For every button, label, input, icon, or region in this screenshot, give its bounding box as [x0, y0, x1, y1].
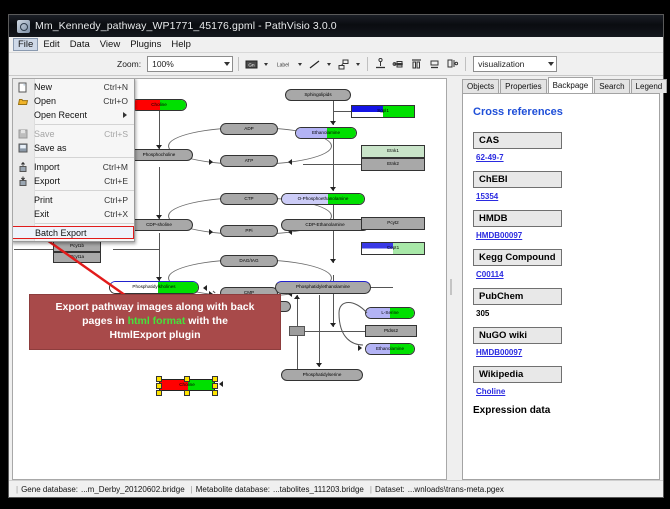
node-label: Etnk1: [387, 149, 399, 154]
svg-text:Gn: Gn: [249, 62, 256, 67]
selection-handle-tl[interactable]: [156, 376, 162, 382]
menu-item-label: Save as: [34, 143, 128, 153]
metabolite-database-label: Metabolite database:: [196, 485, 270, 494]
label-dropdown-icon[interactable]: [298, 63, 302, 66]
node-etnk2[interactable]: Etnk2: [361, 158, 425, 171]
menu-bar: File Edit Data View Plugins Help: [9, 37, 663, 53]
menu-item-label: Batch Export: [35, 228, 133, 238]
menu-plugins[interactable]: Plugins: [125, 38, 166, 51]
selection-handle-mr[interactable]: [212, 383, 218, 389]
node-label: O-Phosphoethanolamine: [298, 197, 349, 202]
xref-value: 305: [476, 309, 649, 318]
node-dag[interactable]: DAG/IAG: [220, 255, 278, 267]
tab-search[interactable]: Search: [594, 79, 629, 93]
visualization-value: visualization: [478, 59, 524, 69]
node-cept1[interactable]: Cept1: [361, 242, 425, 255]
zoom-combo[interactable]: 100%: [147, 56, 233, 72]
callout-line-2a: pages in: [82, 315, 128, 327]
pathvisio-app-icon: [17, 20, 30, 33]
align-left-icon[interactable]: [409, 57, 424, 72]
node-label: Sgpl1: [377, 109, 389, 114]
line-dropdown-icon[interactable]: [327, 63, 331, 66]
selection-handle-bl[interactable]: [156, 390, 162, 396]
selection-handle-bc[interactable]: [184, 390, 190, 396]
cross-references-heading: Cross references: [473, 106, 649, 118]
arrow-sam-to-ptdcholine: [203, 285, 207, 291]
node-ctp[interactable]: CTP: [220, 193, 278, 205]
menu-item-label: Print: [34, 195, 104, 205]
node-label: Sphingolipids: [304, 93, 331, 98]
toolbar-separator-3: [465, 57, 466, 71]
export-icon: [12, 176, 34, 186]
interaction-dropdown-icon[interactable]: [356, 63, 360, 66]
menu-item-open[interactable]: Open Ctrl+O: [12, 94, 134, 108]
callout-line-2c: with the: [185, 315, 228, 327]
menu-separator-4: [34, 223, 134, 224]
node-cdp-ethanolamine[interactable]: CDP-Ethanolamine: [281, 219, 369, 231]
node-ppi[interactable]: PPi: [220, 225, 278, 237]
title-bar: Mm_Kennedy_pathway_WP1771_45176.gpml - P…: [9, 15, 663, 37]
menu-item-accel: Ctrl+E: [104, 176, 134, 186]
xref-hmdb: HMDB HMDB00097: [473, 210, 649, 240]
xref-label: PubChem: [473, 288, 562, 305]
node-sgpl1[interactable]: Sgpl1: [351, 105, 415, 118]
menu-item-label: Open Recent: [34, 110, 123, 120]
selection-handle-tr[interactable]: [212, 376, 218, 382]
callout-line-2: pages in html format with the: [36, 314, 274, 328]
menu-item-label: New: [34, 82, 104, 92]
xref-value-link[interactable]: Choline: [476, 387, 649, 396]
menu-item-save-as[interactable]: Save as: [12, 141, 134, 155]
node-phosphatidylserine[interactable]: Phosphatidylserine: [281, 369, 363, 381]
node-label: CDP-Ethanolamine: [305, 223, 344, 228]
datanode-dropdown-icon[interactable]: [264, 63, 268, 66]
menu-item-open-recent[interactable]: Open Recent: [12, 108, 134, 122]
arrow-pe-ps-down: [316, 363, 322, 367]
align-center-icon[interactable]: [427, 57, 442, 72]
menu-separator-2: [34, 157, 134, 158]
xref-wikipedia: Wikipedia Choline: [473, 366, 649, 396]
xref-kegg-compound: Kegg Compound C00114: [473, 249, 649, 279]
save-disk-icon: [12, 129, 34, 139]
node-atp[interactable]: ATP: [220, 155, 278, 167]
node-o-phosphoethanolamine[interactable]: O-Phosphoethanolamine: [281, 193, 365, 205]
main-body: Choline Sphingolipids Ethanolamine ADP A…: [9, 76, 663, 480]
callout-line-3: HtmlExport plugin: [36, 328, 274, 342]
import-icon: [12, 162, 34, 172]
menu-item-label: Exit: [34, 209, 104, 219]
node-label: ATP: [245, 159, 254, 164]
status-bar: | Gene database: ...m_Derby_20120602.bri…: [9, 480, 663, 497]
xref-label: NuGO wiki: [473, 327, 562, 344]
menu-item-export[interactable]: Export Ctrl+E: [12, 174, 134, 188]
menu-help[interactable]: Help: [166, 38, 196, 51]
arrow-to-choline-selected: [219, 381, 223, 387]
menu-item-accel: Ctrl+N: [104, 82, 134, 92]
node-label: Etnk2: [387, 162, 399, 167]
metabolite-database-value: ...tabolites_111203.bridge: [273, 485, 364, 494]
menu-edit[interactable]: Edit: [38, 38, 64, 51]
arrow-to-ppi: [209, 229, 213, 235]
dataset-value: ...wnloads\trans-meta.pgex: [408, 485, 504, 494]
menu-item-exit[interactable]: Exit Ctrl+X: [12, 207, 134, 221]
node-label: L-Serine: [381, 311, 398, 316]
line-icon[interactable]: [307, 57, 322, 72]
callout-line-1: Export pathway images along with back: [36, 300, 274, 314]
backpage-content: Cross references CAS 62-49-7 ChEBI 15354…: [462, 93, 660, 480]
node-phosphocholine[interactable]: Phosphocholine: [125, 149, 193, 161]
xref-value-link[interactable]: 15354: [476, 192, 649, 201]
side-tab-row: Objects Properties Backpage Search Legen…: [454, 78, 660, 93]
screen-root: Mm_Kennedy_pathway_WP1771_45176.gpml - P…: [0, 0, 670, 509]
node-label: ADP: [244, 127, 253, 132]
zoom-value: 100%: [152, 59, 174, 69]
menu-item-accel: Ctrl+M: [103, 162, 134, 172]
window-title: Mm_Kennedy_pathway_WP1771_45176.gpml - P…: [35, 20, 337, 32]
xref-label: Kegg Compound: [473, 249, 562, 266]
node-choline-top[interactable]: Choline: [131, 99, 187, 111]
node-label: Pcyt2: [387, 221, 399, 226]
node-etnk1[interactable]: Etnk1: [361, 145, 425, 158]
svg-text:Label: Label: [277, 63, 289, 69]
node-label: Ethanolamine: [312, 131, 340, 136]
chevron-down-icon: [224, 62, 230, 66]
node-label: Phosphatidylethanolamine: [296, 285, 350, 290]
status-divider-1: |: [191, 485, 193, 494]
edge-choline-phosphocholine: [159, 111, 160, 149]
menu-item-accel: Ctrl+O: [103, 96, 134, 106]
node-label: Phosphatidylserine: [303, 373, 342, 378]
selection-handle-ml[interactable]: [156, 383, 162, 389]
toolbar-separator-2: [367, 57, 368, 71]
node-label: Choline: [151, 103, 167, 108]
tab-objects[interactable]: Objects: [462, 79, 499, 93]
callout-highlight: html format: [128, 315, 186, 327]
chevron-down-icon-2: [548, 62, 554, 66]
dataset-label: Dataset:: [375, 485, 405, 494]
node-phosphatidylethanolamine[interactable]: Phosphatidylethanolamine: [275, 281, 371, 294]
menu-item-accel: Ctrl+P: [104, 195, 134, 205]
arrow-ethanolamine-down: [330, 187, 336, 191]
menu-item-label: Export: [34, 176, 104, 186]
xref-nugo-wiki: NuGO wiki HMDB00097: [473, 327, 649, 357]
visualization-combo[interactable]: visualization: [473, 56, 557, 72]
zoom-label: Zoom:: [117, 59, 141, 69]
side-panel: Objects Properties Backpage Search Legen…: [454, 78, 660, 480]
node-label: PPi: [245, 229, 252, 234]
panel-splitter[interactable]: [449, 78, 454, 480]
gene-database-label: Gene database:: [21, 485, 78, 494]
arrow-sphingolipids-down: [330, 121, 336, 125]
menu-item-accel: Ctrl+S: [104, 129, 134, 139]
curve-serine-ethanolamine: [333, 295, 373, 355]
annotation-callout: Export pathway images along with back pa…: [29, 294, 281, 350]
arrow-to-atp: [209, 159, 213, 165]
xref-cas: CAS 62-49-7: [473, 132, 649, 162]
node-label: CTP: [244, 197, 253, 202]
submenu-arrow-icon: [123, 112, 127, 118]
save-as-icon: [12, 143, 34, 153]
tool-bar: Zoom: 100% Gn Label: [9, 53, 663, 76]
label-icon[interactable]: Label: [273, 57, 293, 72]
tab-legend[interactable]: Legend: [631, 79, 668, 93]
expression-data-heading: Expression data: [473, 405, 649, 416]
node-adp[interactable]: ADP: [220, 123, 278, 135]
node-ethanolamine-top[interactable]: Ethanolamine: [295, 127, 357, 139]
xref-label: ChEBI: [473, 171, 562, 188]
arrow-ps-pe-up: [294, 295, 300, 299]
xref-label: HMDB: [473, 210, 562, 227]
interaction-icon[interactable]: [336, 57, 351, 72]
status-divider-2: |: [370, 485, 372, 494]
status-divider-0: |: [16, 485, 18, 494]
menu-file[interactable]: File: [13, 38, 38, 51]
menu-item-label: Import: [34, 162, 103, 172]
node-label: DAG/IAG: [239, 259, 258, 264]
menu-view[interactable]: View: [95, 38, 125, 51]
arrow-ophospho-down: [330, 259, 336, 263]
xref-value-link[interactable]: C00114: [476, 270, 649, 279]
xref-value-link[interactable]: 62-49-7: [476, 153, 649, 162]
node-label: Ptdss2: [384, 329, 398, 334]
menu-separator-3: [34, 190, 134, 191]
node-sphingolipids[interactable]: Sphingolipids: [285, 89, 351, 101]
node-label: CDP-sholine: [146, 223, 172, 228]
xref-chebi: ChEBI 15354: [473, 171, 649, 201]
toolbar-separator: [238, 57, 239, 71]
anchor-box: [289, 326, 305, 336]
tab-backpage[interactable]: Backpage: [548, 77, 594, 93]
selection-handle-tc[interactable]: [184, 376, 190, 382]
menu-item-print[interactable]: Print Ctrl+P: [12, 193, 134, 207]
menu-item-import[interactable]: Import Ctrl+M: [12, 160, 134, 174]
node-label: Phosphocholine: [143, 153, 176, 158]
xref-label: Wikipedia: [473, 366, 562, 383]
menu-item-label: Open: [34, 96, 103, 106]
edge-ethanolamine-ophospho: [333, 139, 334, 191]
node-pcyt2[interactable]: Pcyt2: [361, 217, 425, 230]
pathway-canvas[interactable]: Choline Sphingolipids Ethanolamine ADP A…: [12, 78, 447, 480]
node-label: Choline: [179, 383, 195, 388]
open-folder-icon: [12, 97, 34, 106]
align-top-icon[interactable]: [373, 57, 388, 72]
menu-item-accel: Ctrl+X: [104, 209, 134, 219]
node-label: Ethanolamine: [376, 347, 404, 352]
menu-item-save: Save Ctrl+S: [12, 127, 134, 141]
menu-separator-1: [34, 124, 134, 125]
align-middle-icon[interactable]: [391, 57, 406, 72]
xref-value-link[interactable]: HMDB00097: [476, 231, 649, 240]
xref-value-link[interactable]: HMDB00097: [476, 348, 649, 357]
file-menu-popup[interactable]: New Ctrl+N Open Ctrl+O Open Recent: [12, 78, 135, 242]
menu-item-batch-export[interactable]: Batch Export: [12, 226, 134, 239]
tab-properties[interactable]: Properties: [500, 79, 546, 93]
menu-item-new[interactable]: New Ctrl+N: [12, 80, 134, 94]
arrow-to-atp-right: [288, 159, 292, 165]
xref-pubchem: PubChem 305: [473, 288, 649, 318]
pathvisio-window: Mm_Kennedy_pathway_WP1771_45176.gpml - P…: [8, 14, 664, 498]
menu-data[interactable]: Data: [65, 38, 95, 51]
edge-ophospho-cdpethanolamine: [333, 205, 334, 263]
node-label: Cept1: [387, 246, 399, 251]
edge-phosphocholine-cdpcholine: [159, 167, 160, 219]
xref-label: CAS: [473, 132, 562, 149]
new-document-icon: [12, 82, 34, 93]
gene-database-value: ...m_Derby_20120602.bridge: [81, 485, 185, 494]
stack-icon[interactable]: [445, 57, 460, 72]
datanode-icon[interactable]: Gn: [244, 57, 259, 72]
selection-handle-br[interactable]: [212, 390, 218, 396]
menu-item-label: Save: [34, 129, 104, 139]
